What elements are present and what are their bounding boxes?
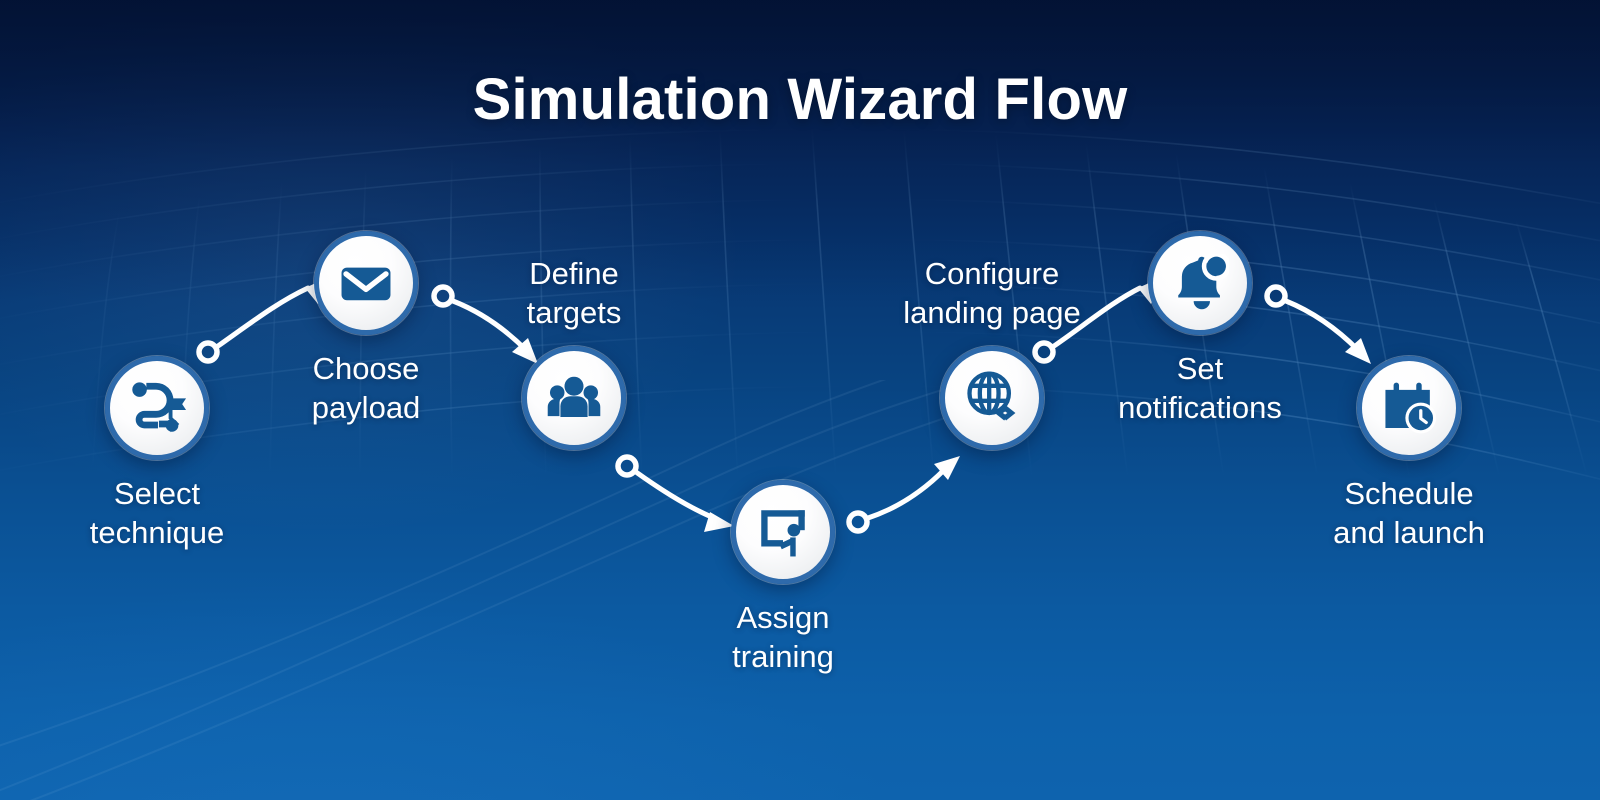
route-flag-icon: [126, 377, 188, 439]
bell-alert-icon: [1171, 254, 1229, 312]
training-board-icon: [754, 503, 812, 561]
step-label: Assign training: [633, 598, 933, 676]
envelope-icon: [337, 254, 395, 312]
step-node-circle[interactable]: [731, 480, 835, 584]
step-node-circle[interactable]: [1357, 356, 1461, 460]
step-node-circle[interactable]: [105, 356, 209, 460]
step-label: Schedule and launch: [1259, 474, 1559, 552]
flow-step-schedule-and-launch[interactable]: Schedule and launch: [1259, 356, 1559, 552]
flow-step-define-targets[interactable]: Define targets: [424, 254, 724, 450]
page-title: Simulation Wizard Flow: [0, 66, 1600, 133]
people-group-icon: [545, 369, 603, 427]
flow-step-assign-training[interactable]: Assign training: [633, 480, 933, 676]
step-node-circle[interactable]: [940, 346, 1044, 450]
globe-code-icon: [962, 368, 1022, 428]
step-node-circle[interactable]: [1148, 231, 1252, 335]
step-node-circle[interactable]: [314, 231, 418, 335]
step-node-circle[interactable]: [522, 346, 626, 450]
infographic-canvas: Simulation Wizard Flow: [0, 0, 1600, 800]
step-label: Define targets: [424, 254, 724, 332]
calendar-clock-icon: [1380, 379, 1438, 437]
step-label: Select technique: [7, 474, 307, 552]
